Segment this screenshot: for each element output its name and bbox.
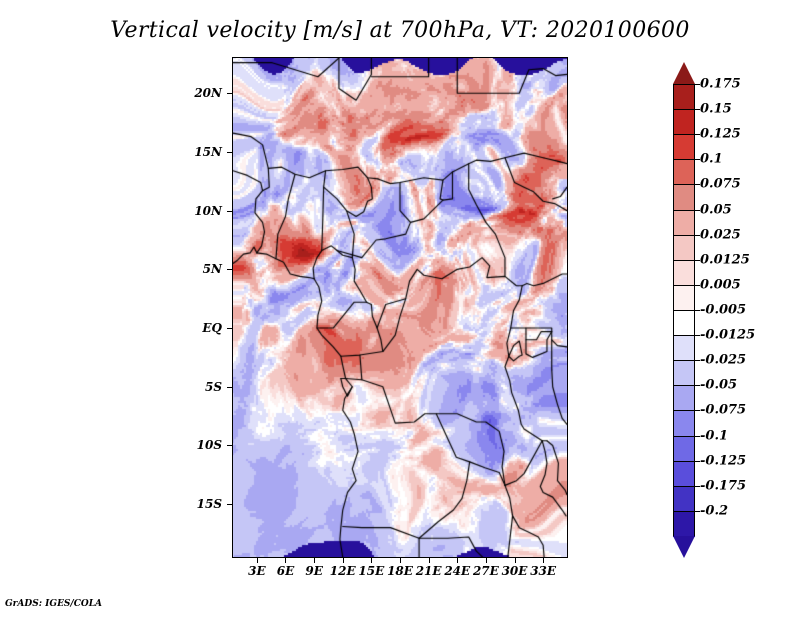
- longitude-tick-label: 24E: [444, 564, 470, 578]
- latitude-tick-label: 20N: [170, 86, 222, 100]
- longitude-tick: [314, 558, 315, 563]
- colorbar-swatch: [673, 210, 695, 236]
- colorbar-tick: [695, 134, 700, 135]
- colorbar-swatch: [673, 310, 695, 336]
- vertical-velocity-field: [233, 58, 567, 557]
- longitude-tick: [515, 558, 516, 563]
- colorbar-tick: [695, 310, 700, 311]
- longitude-tick-label: 27E: [473, 564, 499, 578]
- colorbar-tick: [695, 109, 700, 110]
- longitude-tick-label: 33E: [530, 564, 556, 578]
- colorbar-swatch: [673, 511, 695, 537]
- map-plot-frame: [232, 57, 568, 558]
- colorbar-tick-label: 0.025: [700, 227, 741, 242]
- latitude-tick: [227, 328, 232, 329]
- longitude-tick: [543, 558, 544, 563]
- colorbar-tick-label: 0.005: [700, 277, 741, 292]
- colorbar-tick-label: -0.05: [700, 378, 737, 393]
- colorbar-tick: [695, 210, 700, 211]
- longitude-tick-label: 18E: [387, 564, 413, 578]
- latitude-tick: [227, 211, 232, 212]
- colorbar-tick: [695, 260, 700, 261]
- colorbar-swatch: [673, 410, 695, 436]
- latitude-tick-label: 15S: [170, 497, 222, 511]
- colorbar-tick-label: -0.005: [700, 303, 746, 318]
- colorbar-swatch: [673, 486, 695, 512]
- longitude-tick-label: 15E: [358, 564, 384, 578]
- colorbar-extend-low-arrow: [673, 536, 695, 558]
- latitude-tick-label: 10N: [170, 204, 222, 218]
- colorbar-swatch: [673, 134, 695, 160]
- latitude-tick: [227, 269, 232, 270]
- colorbar-swatch: [673, 436, 695, 462]
- latitude-tick-label: 10S: [170, 438, 222, 452]
- longitude-tick-label: 3E: [248, 564, 266, 578]
- colorbar-tick: [695, 385, 700, 386]
- colorbar-tick: [695, 285, 700, 286]
- colorbar-tick-label: -0.0125: [700, 328, 755, 343]
- longitude-tick-label: 12E: [330, 564, 356, 578]
- longitude-tick: [457, 558, 458, 563]
- colorbar-tick: [695, 360, 700, 361]
- latitude-tick-label: 15N: [170, 145, 222, 159]
- colorbar-tick-label: 0.125: [700, 127, 741, 142]
- latitude-tick: [227, 152, 232, 153]
- colorbar-tick-label: -0.175: [700, 478, 746, 493]
- colorbar-tick: [695, 410, 700, 411]
- colorbar-tick-label: -0.075: [700, 403, 746, 418]
- latitude-tick-label: 5S: [170, 380, 222, 394]
- latitude-tick-label: EQ: [170, 321, 222, 335]
- grads-attribution: GrADS: IGES/COLA: [5, 599, 102, 609]
- longitude-tick: [429, 558, 430, 563]
- longitude-tick: [257, 558, 258, 563]
- colorbar-tick: [695, 461, 700, 462]
- longitude-tick: [486, 558, 487, 563]
- colorbar-tick-label: -0.125: [700, 453, 746, 468]
- longitude-tick: [285, 558, 286, 563]
- latitude-tick: [227, 93, 232, 94]
- colorbar-tick-label: 0.05: [700, 202, 732, 217]
- longitude-tick: [400, 558, 401, 563]
- colorbar-swatch: [673, 184, 695, 210]
- colorbar-tick: [695, 235, 700, 236]
- colorbar-swatch: [673, 109, 695, 135]
- latitude-tick: [227, 504, 232, 505]
- colorbar-tick-label: 0.075: [700, 177, 741, 192]
- colorbar-tick: [695, 159, 700, 160]
- colorbar-tick-label: 0.15: [700, 102, 732, 117]
- longitude-tick-label: 21E: [416, 564, 442, 578]
- colorbar-swatch: [673, 84, 695, 110]
- colorbar-swatch: [673, 385, 695, 411]
- colorbar-tick: [695, 511, 700, 512]
- colorbar-tick-label: 0.0125: [700, 252, 750, 267]
- longitude-tick-label: 9E: [305, 564, 323, 578]
- longitude-tick-label: 30E: [502, 564, 528, 578]
- colorbar-tick-label: 0.175: [700, 77, 741, 92]
- colorbar-tick: [695, 436, 700, 437]
- colorbar-tick-label: -0.1: [700, 428, 728, 443]
- longitude-tick: [343, 558, 344, 563]
- latitude-tick: [227, 387, 232, 388]
- colorbar-swatch: [673, 360, 695, 386]
- latitude-tick-label: 5N: [170, 262, 222, 276]
- page-title: Vertical velocity [m/s] at 700hPa, VT: 2…: [0, 18, 800, 43]
- colorbar-extend-high-arrow: [673, 62, 695, 84]
- colorbar-tick: [695, 84, 700, 85]
- colorbar-tick-label: -0.2: [700, 503, 728, 518]
- colorbar-swatch: [673, 461, 695, 487]
- colorbar-tick: [695, 184, 700, 185]
- longitude-tick-label: 6E: [277, 564, 295, 578]
- colorbar-swatch: [673, 260, 695, 286]
- colorbar-swatch: [673, 159, 695, 185]
- colorbar-swatch: [673, 235, 695, 261]
- colorbar: 0.1750.150.1250.10.0750.050.0250.01250.0…: [673, 62, 695, 558]
- colorbar-swatch: [673, 335, 695, 361]
- colorbar-swatch: [673, 285, 695, 311]
- colorbar-tick-label: 0.1: [700, 152, 723, 167]
- colorbar-tick-label: -0.025: [700, 353, 746, 368]
- latitude-tick: [227, 445, 232, 446]
- colorbar-tick: [695, 335, 700, 336]
- colorbar-tick: [695, 486, 700, 487]
- longitude-tick: [371, 558, 372, 563]
